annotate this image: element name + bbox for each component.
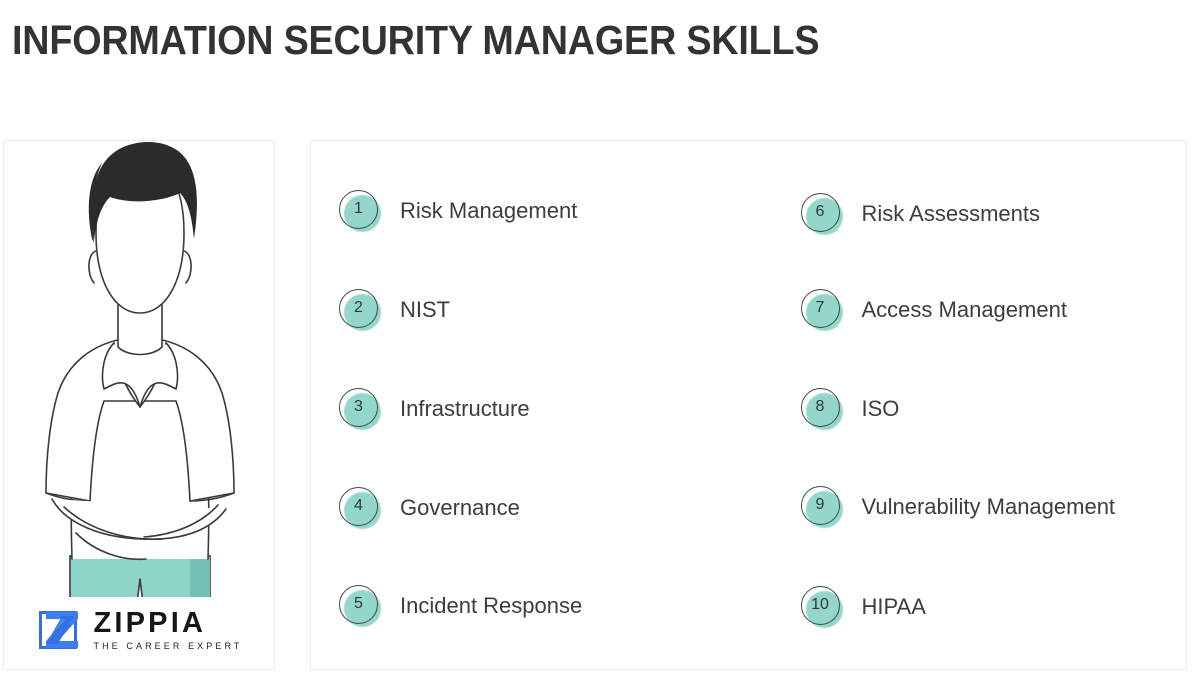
skill-number-badge: 6: [801, 193, 844, 236]
badge-number: 4: [354, 498, 363, 514]
skill-number-badge: 7: [801, 289, 844, 332]
badge-ring: 8: [801, 388, 840, 427]
skill-item-10[interactable]: 10 HIPAA: [801, 585, 926, 629]
zippia-z-mark-icon: [37, 608, 81, 652]
skill-item-1[interactable]: 1 Risk Management: [339, 189, 577, 233]
skills-column-left: 1 Risk Management 2 NIST 3: [311, 141, 749, 669]
badge-ring: 4: [339, 487, 378, 526]
badge-ring: 7: [801, 289, 840, 328]
badge-number: 6: [816, 204, 825, 220]
badge-ring: 1: [339, 190, 378, 229]
badge-number: 10: [811, 597, 829, 613]
skill-label: ISO: [862, 395, 900, 423]
skill-number-badge: 8: [801, 388, 844, 431]
skill-item-5[interactable]: 5 Incident Response: [339, 584, 582, 628]
skill-item-7[interactable]: 7 Access Management: [801, 288, 1067, 332]
person-illustration: [4, 140, 275, 621]
logo-z-glyph: [44, 610, 80, 650]
badge-number: 7: [816, 300, 825, 316]
badge-ring: 6: [801, 193, 840, 232]
badge-number: 9: [816, 497, 825, 513]
skill-item-8[interactable]: 8 ISO: [801, 387, 900, 431]
skill-label: Risk Assessments: [862, 200, 1041, 228]
badge-number: 2: [354, 300, 363, 316]
logo-tagline: THE CAREER EXPERT: [93, 639, 242, 653]
skills-column-right: 6 Risk Assessments 7 Access Management: [749, 141, 1187, 669]
skill-number-badge: 5: [339, 585, 382, 628]
skill-label: Incident Response: [400, 592, 582, 620]
skill-label: HIPAA: [862, 593, 926, 621]
skill-number-badge: 4: [339, 487, 382, 530]
skill-number-badge: 3: [339, 388, 382, 431]
badge-ring: 2: [339, 289, 378, 328]
skill-item-3[interactable]: 3 Infrastructure: [339, 387, 530, 431]
skill-number-badge: 1: [339, 190, 382, 233]
skill-number-badge: 2: [339, 289, 382, 332]
badge-ring: 3: [339, 388, 378, 427]
skill-label: Infrastructure: [400, 395, 530, 423]
zippia-logo[interactable]: ZIPPIA THE CAREER EXPERT: [4, 597, 275, 663]
badge-number: 1: [354, 201, 363, 217]
skill-label: Vulnerability Management: [862, 493, 1116, 521]
logo-wordmark: ZIPPIA: [93, 608, 242, 638]
badge-ring: 5: [339, 585, 378, 624]
skill-item-6[interactable]: 6 Risk Assessments: [801, 192, 1041, 236]
skill-number-badge: 9: [801, 486, 844, 529]
skill-label: Access Management: [862, 296, 1067, 324]
illustration-panel: ZIPPIA THE CAREER EXPERT: [3, 140, 275, 670]
skills-panel: 1 Risk Management 2 NIST 3: [310, 140, 1187, 670]
skills-columns: 1 Risk Management 2 NIST 3: [311, 141, 1186, 669]
skill-item-9[interactable]: 9 Vulnerability Management: [801, 485, 1116, 529]
badge-ring: 9: [801, 486, 840, 525]
page-title: INFORMATION SECURITY MANAGER SKILLS: [12, 14, 819, 66]
skill-item-2[interactable]: 2 NIST: [339, 288, 450, 332]
badge-number: 5: [354, 596, 363, 612]
badge-ring: 10: [801, 586, 840, 625]
skill-label: Risk Management: [400, 197, 577, 225]
skill-label: NIST: [400, 296, 450, 324]
badge-number: 8: [816, 399, 825, 415]
skill-label: Governance: [400, 494, 520, 522]
skill-item-4[interactable]: 4 Governance: [339, 486, 520, 530]
badge-number: 3: [354, 399, 363, 415]
skill-number-badge: 10: [801, 586, 844, 629]
logo-text-block: ZIPPIA THE CAREER EXPERT: [93, 608, 242, 653]
